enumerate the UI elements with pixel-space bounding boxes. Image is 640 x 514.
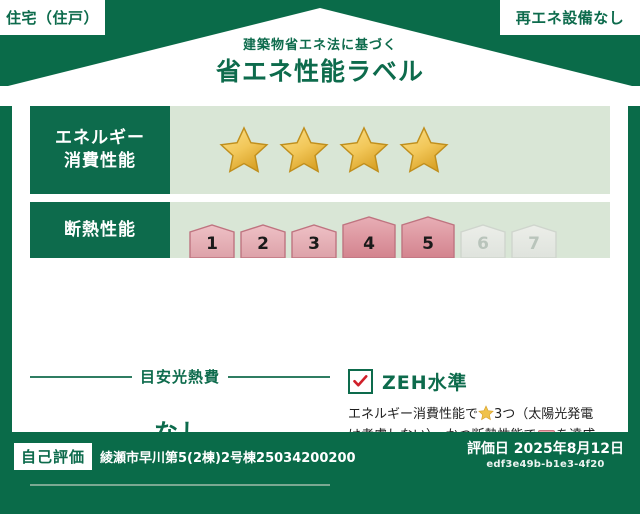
star-icon — [218, 125, 270, 175]
building-name: 綾瀬市早川第5(2棟)2号棟25034200200 — [100, 447, 356, 466]
evaluation-id: edf3e49b-b1e3-4f20 — [467, 459, 624, 472]
rule-right — [228, 376, 330, 378]
insulation-performance-value: 1234567 — [170, 202, 610, 258]
utility-cost-divider — [30, 484, 330, 486]
footer-left: 自己評価 綾瀬市早川第5(2棟)2号棟25034200200 — [0, 443, 356, 470]
insulation-grade-6: 6 — [459, 224, 507, 258]
energy-label-line2: 消費性能 — [64, 150, 136, 173]
energy-performance-label: 住宅（住戸） 再エネ設備なし 建築物省エネ法に基づく 省エネ性能ラベル エネルギ… — [0, 0, 640, 480]
insulation-grade-3: 3 — [290, 224, 338, 258]
renewable-energy-tag: 再エネ設備なし — [500, 0, 640, 35]
star-icon — [398, 125, 450, 175]
insulation-grade-4: 4 — [341, 216, 397, 258]
utility-cost-title: 目安光熱費 — [140, 366, 220, 387]
insulation-label: 断熱性能 — [64, 219, 136, 242]
energy-performance-row: エネルギー 消費性能 — [30, 106, 610, 194]
zeh-header: ZEH水準 — [348, 368, 610, 395]
insulation-grade-value: 7 — [510, 234, 558, 254]
insulation-grade-5: 5 — [400, 216, 456, 258]
insulation-grade-scale: 1234567 — [170, 202, 558, 258]
energy-performance-label-head: エネルギー 消費性能 — [30, 106, 170, 194]
rule-left — [30, 376, 132, 378]
insulation-grade-1: 1 — [188, 224, 236, 258]
star-icon — [338, 125, 390, 175]
insulation-grade-value: 3 — [290, 234, 338, 254]
footer-right: 評価日 2025年8月12日 edf3e49b-b1e3-4f20 — [467, 441, 640, 471]
insulation-grade-2: 2 — [239, 224, 287, 258]
label-body: エネルギー 消費性能 断熱性能 1234567 目安光熱費 — [12, 96, 628, 432]
energy-performance-value — [170, 106, 610, 194]
check-icon — [353, 375, 368, 388]
insulation-grade-value: 5 — [400, 234, 456, 254]
insulation-grade-value: 2 — [239, 234, 287, 254]
insulation-grade-value: 1 — [188, 234, 236, 254]
evaluation-date: 評価日 2025年8月12日 — [467, 441, 624, 459]
star-icon — [278, 125, 330, 175]
insulation-grade-value: 6 — [459, 234, 507, 254]
utility-cost-header: 目安光熱費 — [30, 366, 330, 387]
energy-label-line1: エネルギー — [55, 127, 145, 150]
zeh-desc-stars: 3つ（太陽光発電 — [494, 407, 593, 422]
insulation-performance-row: 断熱性能 1234567 — [30, 202, 610, 258]
label-footer: 自己評価 綾瀬市早川第5(2棟)2号棟25034200200 評価日 2025年… — [0, 432, 640, 480]
insulation-grade-7: 7 — [510, 224, 558, 258]
zeh-checkbox — [348, 369, 373, 394]
zeh-desc-part1: エネルギー消費性能で — [348, 407, 478, 422]
insulation-performance-label-head: 断熱性能 — [30, 202, 170, 258]
self-evaluation-badge: 自己評価 — [14, 443, 92, 470]
insulation-grade-value: 4 — [341, 234, 397, 254]
zeh-title: ZEH水準 — [382, 368, 468, 395]
star-rating — [170, 125, 450, 175]
star-icon — [478, 405, 494, 421]
building-type-tag: 住宅（住戸） — [0, 0, 105, 35]
